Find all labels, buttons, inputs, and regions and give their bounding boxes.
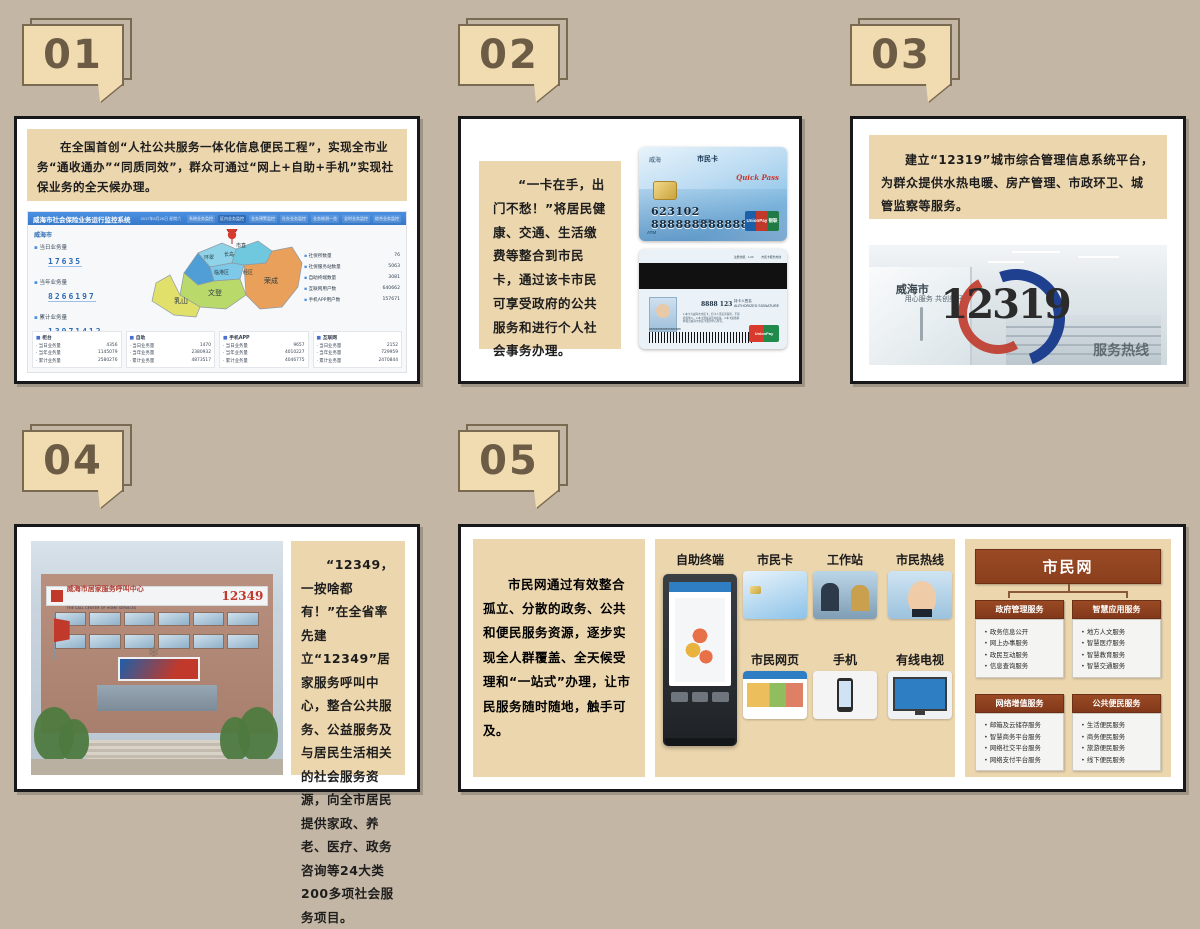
tab-bubble: 01 — [22, 24, 124, 86]
channel-row-label: 当年业务量 — [223, 350, 248, 356]
diagram-root-node: 市民网 — [975, 549, 1161, 584]
channel-name: 自助 — [130, 334, 212, 341]
tab-bubble: 04 — [22, 430, 124, 492]
kpi-label: 当日业务量 — [34, 243, 139, 251]
tab-number: 02 — [479, 35, 539, 75]
kiosk-buttons[interactable] — [671, 692, 729, 702]
tab-tail-icon — [926, 84, 950, 102]
channel-row-value: 2470844 — [378, 358, 398, 364]
channel-label: 工作站 — [827, 551, 863, 568]
card-fine-print: 1.本卡为威海市市民卡，持卡人须妥善保管，不得转借他人。2.本卡遗失请及时挂失。… — [683, 313, 741, 324]
dashboard-nav[interactable]: 系统业务监控 区内业务监控 业务预警监控 社办业务监控 业务统测一览 全时业务监… — [187, 215, 401, 223]
citizen-card-back: 注册金额：1.00 市民卡服务热线 8888 123 持卡人签名 AUTHORI… — [639, 249, 787, 349]
diagram-connector — [1008, 584, 1127, 598]
card-05-description: 市民网通过有效整合孤立、分散的政务、公共和便民服务资源，逐步实现全人群覆盖、全天… — [483, 573, 635, 744]
dashboard-header: 威海市社会保险业务运行监控系统 2017年8月26日 星期六 系统业务监控 区内… — [28, 212, 406, 225]
diagram-group-title: 政府管理服务 — [975, 600, 1064, 619]
diagram-item: 商务便民服务 — [1081, 732, 1156, 741]
wall-slogan: 服务热线 — [1093, 340, 1149, 360]
kpi-label: 当年业务量 — [34, 278, 139, 286]
channel-row-label: 当年业务量 — [36, 350, 61, 356]
channel-row: 累计业务量2470844 — [317, 358, 399, 364]
dashboard-date: 2017年8月26日 星期六 — [141, 216, 182, 222]
card-valid-date: 00/00 — [699, 219, 712, 225]
card-02-body: “一卡在手，出门不愁！”将居民健康、交通、生活缴费等整合到市民卡，通过该卡市民可… — [461, 119, 799, 381]
channel-row-value: 9657 — [293, 343, 304, 349]
ceiling-light — [1078, 256, 1120, 258]
workstation-thumb-icon — [813, 571, 877, 619]
card-back-number: 8888 123 — [701, 301, 732, 308]
channel-row-value: 4356 — [106, 343, 117, 349]
kiosk-screen-map — [675, 598, 725, 682]
diagram-item: 邮箱及云储存服务 — [984, 720, 1059, 729]
channel-name: 互联网 — [317, 334, 399, 341]
kiosk-base — [665, 738, 735, 746]
card-01: 在全国首创“人社公共服务一体化信息便民工程”，实现全市业务“通收通办”“同质同效… — [14, 116, 420, 384]
channel-row-label: 当日业务量 — [130, 343, 155, 349]
tab-number: 05 — [479, 441, 539, 481]
diagram-item: 智慧教育服务 — [1081, 650, 1156, 659]
map-label-jingqu: 经区 — [243, 269, 253, 276]
ground — [31, 759, 283, 775]
side-stat-value: 76 — [394, 253, 400, 259]
tab-tail-icon — [98, 84, 122, 102]
channel-row-value: 2380932 — [191, 350, 211, 356]
side-stat-value: 157671 — [382, 297, 400, 303]
channel-label: 市民网页 — [751, 651, 799, 668]
channel-row: 累计业务量4046775 — [223, 358, 305, 364]
side-stat-value: 5063 — [388, 264, 400, 270]
channel-tile: 互联网 当日业务量2152 当年业务量729959 累计业务量2470844 — [313, 331, 403, 369]
map-pin-icon — [227, 229, 237, 244]
kpi-label: 累计业务量 — [34, 313, 139, 321]
kpi-item: 当年业务量 8266197 — [34, 278, 139, 304]
logo-12319: 12319 — [941, 281, 1070, 328]
section-tab-04[interactable]: 04 — [22, 424, 132, 496]
tree-icon — [59, 719, 89, 761]
diagram-group-title: 公共便民服务 — [1072, 694, 1161, 713]
channel-label: 市民卡 — [757, 551, 793, 568]
diagram-item: 网络社交平台服务 — [984, 743, 1059, 752]
card-02-description: “一卡在手，出门不愁！”将居民健康、交通、生活缴费等整合到市民卡，通过该卡市民可… — [479, 161, 621, 349]
channel-label: 市民热线 — [896, 551, 944, 568]
side-stat-row: 社保服务站数量 5063 — [304, 264, 400, 270]
side-stat-row: 自助终端数量 3081 — [304, 275, 400, 281]
card-04: 威海市居家服务呼叫中心 THE CALL CENTER OF HOME SERV… — [14, 524, 420, 792]
channel-row-label: 当年业务量 — [317, 350, 342, 356]
channel-row-label: 累计业务量 — [317, 358, 342, 364]
diagram-item: 线下便民服务 — [1081, 755, 1156, 764]
channel-row: 累计业务量4873517 — [130, 358, 212, 364]
channel-row-label: 当日业务量 — [36, 343, 61, 349]
channel-row-label: 当年业务量 — [130, 350, 155, 356]
side-stat-name: 自助终端数量 — [304, 275, 336, 281]
quickpass-logo: Quick Pass — [736, 173, 779, 182]
channel-row-label: 累计业务量 — [36, 358, 61, 364]
card-back-header: 注册金额：1.00 市民卡服务热线 — [639, 255, 781, 259]
tab-number: 04 — [43, 441, 103, 481]
tab-bubble: 02 — [458, 24, 560, 86]
diagram-item: 智慧交通服务 — [1081, 661, 1156, 670]
tab-tail-icon — [534, 84, 558, 102]
diagram-row-1: 政府管理服务 政务信息公开 网上办事服务 政民互动服务 信息查询服务 智慧应用服… — [975, 600, 1161, 678]
diagram-group-items: 生活便民服务 商务便民服务 旅游便民服务 线下便民服务 — [1072, 713, 1161, 772]
map-label-lingang: 临港区 — [214, 269, 229, 276]
kiosk-screen-header — [669, 582, 731, 592]
ceiling-light — [988, 261, 1024, 263]
channel-tile: 自助 当日业务量1470 当年业务量2380932 累计业务量4873517 — [126, 331, 216, 369]
channel-citizen-webpage[interactable]: 市民网页 — [743, 651, 807, 719]
channel-row: 累计业务量2580276 — [36, 358, 118, 364]
diagram-group-network: 网络增值服务 邮箱及云储存服务 智慧商务平台服务 网络社交平台服务 网络支付平台… — [975, 694, 1064, 772]
diagram-group-items: 政务信息公开 网上办事服务 政民互动服务 信息查询服务 — [975, 619, 1064, 678]
building-signboard: 威海市居家服务呼叫中心 THE CALL CENTER OF HOME SERV… — [46, 586, 269, 606]
dashboard-nav-item[interactable]: 全时业务监控 — [342, 215, 370, 223]
dashboard-nav-item[interactable]: 区内业务监控 — [218, 215, 246, 223]
hotline-thumb-icon — [888, 571, 952, 619]
signature-en: AUTHORIZED SIGNATURE — [734, 304, 779, 309]
side-stat-value: 640662 — [382, 286, 400, 292]
channel-label: 有线电视 — [896, 651, 944, 668]
dashboard-title: 威海市社会保险业务运行监控系统 — [33, 214, 131, 224]
card-02: “一卡在手，出门不愁！”将居民健康、交通、生活缴费等整合到市民卡，通过该卡市民可… — [458, 116, 802, 384]
channel-icon-grid: 市民卡 工作站 市民热线 自助终端 — [663, 551, 947, 746]
diagram-group-smart: 智慧应用服务 地方人文服务 智慧医疗服务 智慧教育服务 智慧交通服务 — [1072, 600, 1161, 678]
tree-icon — [220, 717, 250, 761]
tab-number: 01 — [43, 35, 103, 75]
channel-row: 当日业务量1470 — [130, 343, 212, 349]
card-03: 建立“12319”城市综合管理信息系统平台，为群众提供水热电暖、房产管理、市政环… — [850, 116, 1186, 384]
tab-number: 03 — [871, 35, 931, 75]
building-facade: 威海市居家服务呼叫中心 THE CALL CENTER OF HOME SERV… — [41, 574, 273, 733]
map-label-wendeng: 文登 — [208, 288, 222, 297]
channel-row-label: 当日业务量 — [223, 343, 248, 349]
map-label-rongcheng: 荣成 — [264, 276, 278, 285]
dashboard-nav-item[interactable]: 系统业务监控 — [187, 215, 215, 223]
channel-row: 当年业务量729959 — [317, 350, 399, 356]
channel-row-value: 4046775 — [285, 358, 305, 364]
channel-tile: 手机APP 当日业务量9657 当年业务量4010227 累计业务量404677… — [219, 331, 309, 369]
channel-name: 手机APP — [223, 334, 305, 341]
channel-workstation[interactable]: 工作站 — [813, 551, 877, 619]
magnetic-stripe — [639, 263, 787, 289]
channel-row: 当年业务量4010227 — [223, 350, 305, 356]
kiosk-screen — [669, 582, 731, 686]
building-sign-cn: 威海市居家服务呼叫中心 — [67, 585, 144, 593]
card-05-text-panel: 市民网通过有效整合孤立、分散的政务、公共和便民服务资源，逐步实现全人群覆盖、全天… — [473, 539, 645, 777]
side-stat-name: 互联网用户数 — [304, 286, 336, 292]
signature-panel: 持卡人签名 AUTHORIZED SIGNATURE — [734, 299, 779, 309]
dashboard-nav-item[interactable]: 业务统测一览 — [311, 215, 339, 223]
national-flag-icon — [54, 618, 70, 642]
diagram-group-title: 智慧应用服务 — [1072, 600, 1161, 619]
section-tab-01[interactable]: 01 — [22, 18, 132, 90]
dashboard-nav-item[interactable]: 业务预警监控 — [249, 215, 277, 223]
section-tab-02[interactable]: 02 — [458, 18, 568, 90]
channel-label: 手机 — [833, 651, 857, 668]
channel-row: 当年业务量1145079 — [36, 350, 118, 356]
dashboard-main: 威海市 当日业务量 17635 当年业务量 8266197 累计业务量 139 — [28, 225, 406, 322]
diagram-group-items: 地方人文服务 智慧医疗服务 智慧教育服务 智慧交通服务 — [1072, 619, 1161, 678]
section-tab-03[interactable]: 03 — [850, 18, 960, 90]
tab-tail-icon — [98, 490, 122, 508]
call-center-building-photo: 威海市居家服务呼叫中心 THE CALL CENTER OF HOME SERV… — [31, 541, 283, 775]
mobile-thumb-icon — [813, 671, 877, 719]
channel-row-label: 累计业务量 — [130, 358, 155, 364]
side-stat-value: 3081 — [388, 275, 400, 281]
channel-cable-tv[interactable]: 有线电视 — [883, 651, 957, 719]
map-label-huancui: 环翠 — [204, 255, 214, 261]
side-stat-row: 手机APP用户数 157671 — [304, 297, 400, 303]
channel-row-value: 729959 — [381, 350, 398, 356]
diagram-item: 网上办事服务 — [984, 638, 1059, 647]
side-stat-row: 互联网用户数 640662 — [304, 286, 400, 292]
tab-bubble: 05 — [458, 430, 560, 492]
card-05-body: 市民网通过有效整合孤立、分散的政务、公共和便民服务资源，逐步实现全人群覆盖、全天… — [473, 539, 1171, 777]
social-insurance-dashboard: 威海市社会保险业务运行监控系统 2017年8月26日 星期六 系统业务监控 区内… — [27, 211, 407, 373]
map-label-rushan: 乳山 — [174, 296, 188, 305]
card-05-channels-panel: 市民卡 工作站 市民热线 自助终端 — [655, 539, 955, 777]
channel-mobile[interactable]: 手机 — [813, 651, 877, 719]
tab-tail-icon — [534, 490, 558, 508]
map-svg: 市直 环翠 长岛 临港区 经区 文登 荣成 乳山 — [140, 229, 318, 321]
channel-row-value: 2152 — [387, 343, 398, 349]
channel-citizen-card[interactable]: 市民卡 — [743, 551, 807, 619]
building-entrance — [97, 685, 218, 710]
kpi-value: 8266197 — [48, 292, 96, 302]
side-stat-row: 社保所数量 76 — [304, 253, 400, 259]
ceiling-light — [1012, 251, 1060, 253]
card-type-label: 市民卡 — [697, 154, 718, 164]
side-stat-name: 社保服务站数量 — [304, 264, 341, 270]
kpi-value: 17635 — [48, 257, 82, 267]
diagram-item: 旅游便民服务 — [1081, 743, 1156, 752]
channel-hotline[interactable]: 市民热线 — [883, 551, 957, 619]
card-05: 市民网通过有效整合孤立、分散的政务、公共和便民服务资源，逐步实现全人群覆盖、全天… — [458, 524, 1186, 792]
channel-row-value: 2580276 — [98, 358, 118, 364]
card-01-body: 在全国首创“人社公共服务一体化信息便民工程”，实现全市业务“通收通办”“同质同效… — [17, 119, 417, 381]
webpage-thumb-icon — [743, 671, 807, 719]
card-back-head-left: 注册金额：1.00 — [734, 255, 753, 259]
diagram-item: 政民互动服务 — [984, 650, 1059, 659]
card-01-description: 在全国首创“人社公共服务一体化信息便民工程”，实现全市业务“通收通办”“同质同效… — [27, 129, 407, 201]
dashboard-nav-item[interactable]: 社办业务监控 — [280, 215, 308, 223]
diagram-item: 智慧医疗服务 — [1081, 638, 1156, 647]
map-label-shizhi: 市直 — [236, 242, 246, 249]
channel-row-value: 1470 — [200, 343, 211, 349]
channel-tile: 柜台 当日业务量4356 当年业务量1145079 累计业务量2580276 — [32, 331, 122, 369]
side-stat-name: 手机APP用户数 — [304, 297, 340, 303]
city-management-center-photo: 威海市 用心服务 共创美好 12319 服务热线 — [869, 245, 1167, 365]
diagram-group-government: 政府管理服务 政务信息公开 网上办事服务 政民互动服务 信息查询服务 — [975, 600, 1064, 678]
channel-row-value: 4873517 — [191, 358, 211, 364]
weihai-region-map[interactable]: 市直 环翠 长岛 临港区 经区 文登 荣成 乳山 — [140, 229, 318, 321]
channel-row-label: 当日业务量 — [317, 343, 342, 349]
led-display-screen — [118, 657, 201, 682]
chip-icon — [653, 181, 677, 200]
barcode-icon — [649, 332, 754, 343]
diagram-item: 网络支付平台服务 — [984, 755, 1059, 764]
dashboard-channel-tiles: 柜台 当日业务量4356 当年业务量1145079 累计业务量2580276 自… — [32, 331, 402, 369]
window-row — [55, 612, 259, 626]
poster-stage: 01 02 03 04 05 在全国首创“人社公共服务一体化信息便民工程” — [0, 0, 1200, 809]
kpi-item: 当日业务量 17635 — [34, 243, 139, 269]
card-brand-label: 威海 — [649, 155, 661, 164]
channel-row: 当年业务量2380932 — [130, 350, 212, 356]
dashboard-side-stats: 社保所数量 76 社保服务站数量 5063 自助终端数量 3081 互联网用 — [304, 253, 400, 308]
diagram-item: 地方人文服务 — [1081, 627, 1156, 636]
cable-tv-thumb-icon — [888, 671, 952, 719]
diagram-row-2: 网络增值服务 邮箱及云储存服务 智慧商务平台服务 网络社交平台服务 网络支付平台… — [975, 694, 1161, 772]
card-04-description: “12349，一按啥都有！”在全省率先建立“12349”居家服务呼叫中心，整合公… — [291, 541, 405, 775]
tab-bubble: 03 — [850, 24, 952, 86]
building-logo-icon — [51, 590, 63, 602]
unionpay-logo: UnionPay 银联 — [745, 211, 779, 231]
unionpay-back-logo: UnionPay — [749, 325, 779, 342]
dashboard-nav-item[interactable]: 综合业务监控 — [373, 215, 401, 223]
door-handle — [920, 307, 923, 341]
side-stat-name: 社保所数量 — [304, 253, 332, 259]
channel-row: 当日业务量4356 — [36, 343, 118, 349]
diagram-group-title: 网络增值服务 — [975, 694, 1064, 713]
citizen-card-thumb-icon — [743, 571, 807, 619]
section-tab-05[interactable]: 05 — [458, 424, 568, 496]
card-03-description: 建立“12319”城市综合管理信息系统平台，为群众提供水热电暖、房产管理、市政环… — [869, 135, 1167, 219]
channel-row-label: 累计业务量 — [223, 358, 248, 364]
channel-row: 当日业务量9657 — [223, 343, 305, 349]
citizen-card-front: 威海 市民卡 Quick Pass 623102 8888888888888 0… — [639, 147, 787, 241]
dashboard-city-label: 威海市 — [34, 230, 52, 239]
building-sign-en: THE CALL CENTER OF HOME SERVICES — [67, 606, 137, 610]
atm-label: ATM — [647, 230, 656, 235]
card-serial: 8888888888888888888 — [649, 327, 681, 331]
channel-self-service-terminal[interactable]: 自助终端 — [663, 551, 737, 746]
channel-row: 当日业务量2152 — [317, 343, 399, 349]
map-label-changdao: 长岛 — [224, 251, 234, 258]
card-05-diagram-panel: 市民网 政府管理服务 政务信息公开 网上办事服务 政民互动服务 信息查询服务 — [965, 539, 1171, 777]
diagram-group-items: 邮箱及云储存服务 智慧商务平台服务 网络社交平台服务 网络支付平台服务 — [975, 713, 1064, 772]
diagram-group-public: 公共便民服务 生活便民服务 商务便民服务 旅游便民服务 线下便民服务 — [1072, 694, 1161, 772]
card-03-body: 建立“12319”城市综合管理信息系统平台，为群众提供水热电暖、房产管理、市政环… — [853, 119, 1183, 381]
channel-row-value: 4010227 — [285, 350, 305, 356]
diagram-item: 生活便民服务 — [1081, 720, 1156, 729]
channel-label: 自助终端 — [676, 551, 724, 568]
building-sign-number: 12349 — [222, 589, 264, 603]
kiosk-icon — [663, 574, 737, 746]
diagram-item: 信息查询服务 — [984, 661, 1059, 670]
diagram-item: 政务信息公开 — [984, 627, 1059, 636]
channel-name: 柜台 — [36, 334, 118, 341]
card-back-head-right: 市民卡服务热线 — [761, 255, 781, 259]
card-04-body: 威海市居家服务呼叫中心 THE CALL CENTER OF HOME SERV… — [17, 527, 417, 789]
channel-row-value: 1145079 — [98, 350, 118, 356]
diagram-item: 智慧商务平台服务 — [984, 732, 1059, 741]
